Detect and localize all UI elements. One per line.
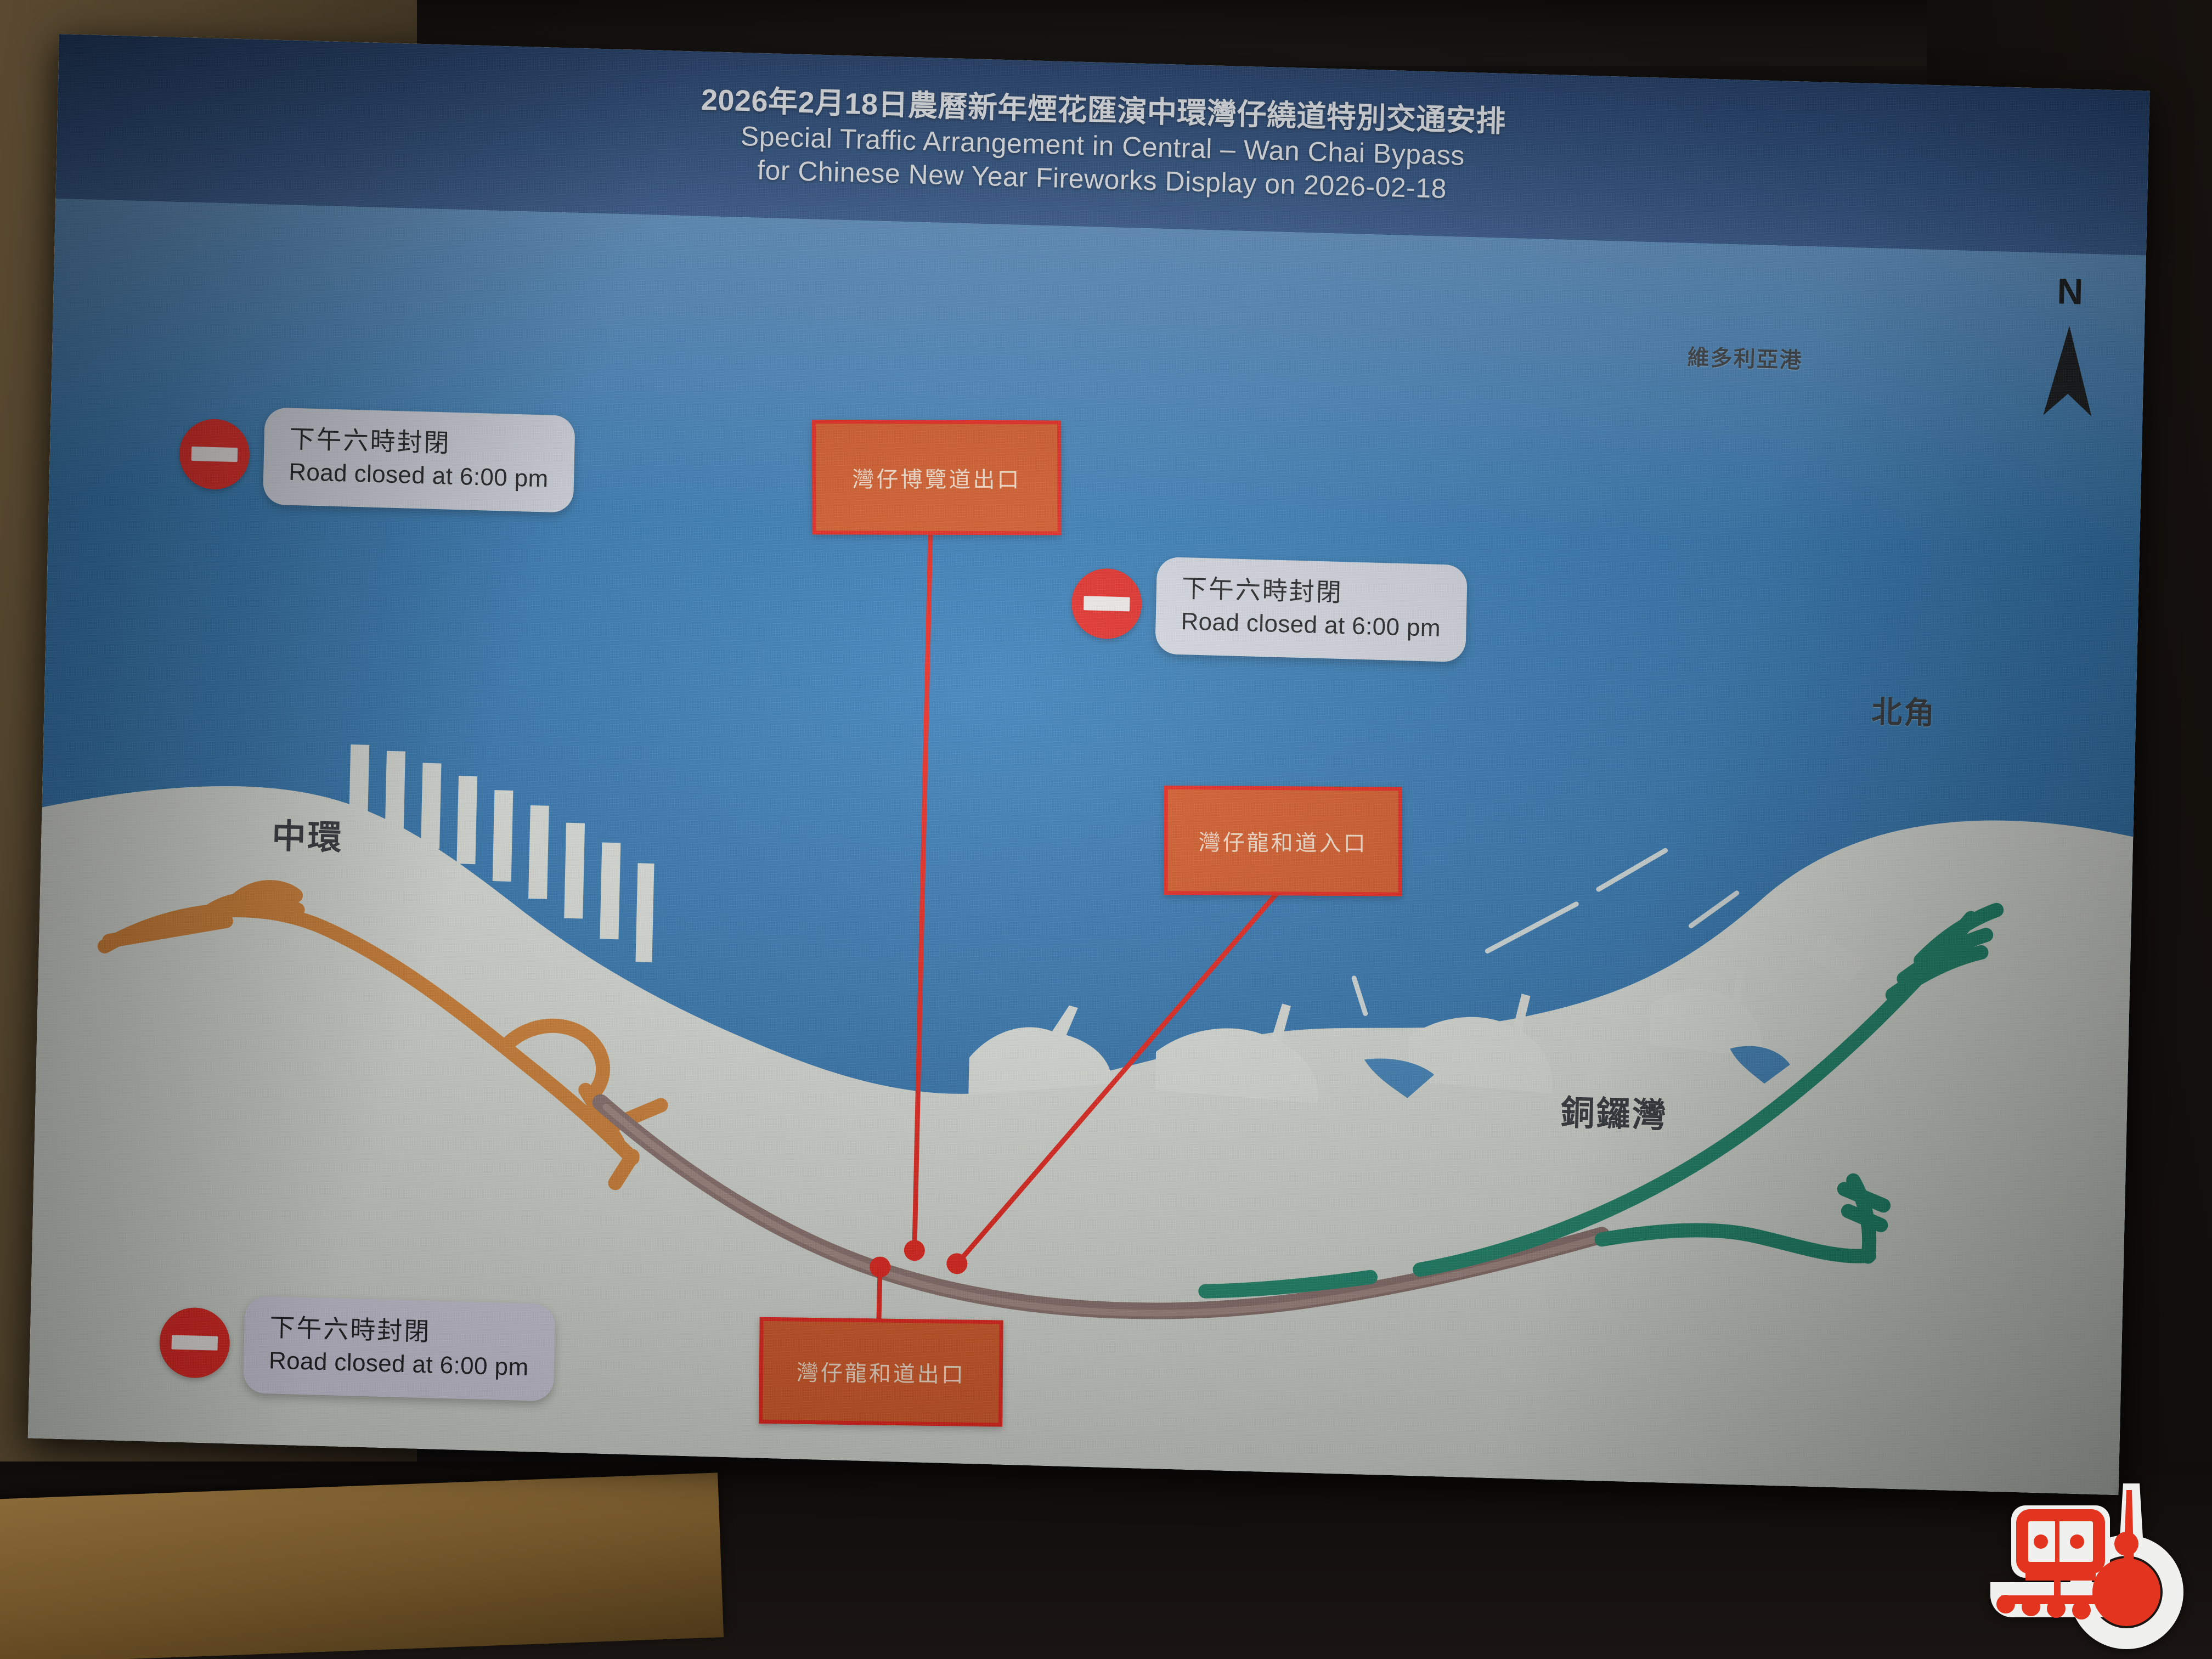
closure-callout-south-en: Road closed at 6:00 pm — [268, 1345, 529, 1384]
ramp-box-expo-exit[interactable]: 灣仔博覽道出口 — [812, 420, 1061, 535]
ramp-box-lungwo-exit[interactable]: 灣仔龍和道出口 — [759, 1317, 1003, 1427]
projection-screen: 2026年2月18日農曆新年煙花匯演中環灣仔繞道特別交通安排 Special T… — [28, 34, 2150, 1495]
no-entry-icon — [159, 1307, 230, 1379]
map-canvas: N 維多利亞港 中環 北角 銅鑼灣 灣仔博覽道出口 灣仔龍和道入口 — [28, 199, 2146, 1495]
place-label-victoria-harbour: 維多利亞港 — [1687, 340, 1803, 375]
closure-callout-east-en: Road closed at 6:00 pm — [1181, 606, 1441, 645]
north-arrow-icon — [2039, 323, 2098, 419]
closure-callout-east[interactable]: 下午六時封閉 Road closed at 6:00 pm — [1070, 555, 1467, 662]
place-label-central: 中環 — [272, 808, 344, 860]
ramp-box-lungwo-exit-label: 灣仔龍和道出口 — [797, 1355, 966, 1389]
photo-scene: 2026年2月18日農曆新年煙花匯演中環灣仔繞道特別交通安排 Special T… — [0, 0, 2212, 1659]
closure-callout-east-pill: 下午六時封閉 Road closed at 6:00 pm — [1155, 557, 1467, 662]
no-entry-icon — [1071, 568, 1143, 640]
ramp-box-lungwo-entrance-label: 灣仔龍和道入口 — [1199, 825, 1368, 857]
no-entry-icon — [179, 419, 251, 490]
place-label-causeway-bay: 銅鑼灣 — [1560, 1085, 1668, 1137]
closure-callout-south[interactable]: 下午六時封閉 Road closed at 6:00 pm — [159, 1294, 555, 1401]
closure-callout-south-pill: 下午六時封閉 Road closed at 6:00 pm — [243, 1296, 555, 1401]
hk01-logo — [1979, 1474, 2193, 1655]
north-arrow: N — [2037, 272, 2101, 419]
closure-callout-west-en: Road closed at 6:00 pm — [289, 456, 549, 495]
north-arrow-label: N — [2040, 272, 2101, 310]
closure-callout-west-pill: 下午六時封閉 Road closed at 6:00 pm — [263, 407, 575, 512]
ramp-box-lungwo-entrance[interactable]: 灣仔龍和道入口 — [1164, 786, 1402, 896]
closure-callout-west[interactable]: 下午六時封閉 Road closed at 6:00 pm — [178, 405, 575, 512]
place-label-north-point: 北角 — [1871, 687, 1937, 733]
wooden-panel — [0, 1472, 724, 1659]
ramp-box-expo-exit-label: 灣仔博覽道出口 — [852, 461, 1021, 494]
